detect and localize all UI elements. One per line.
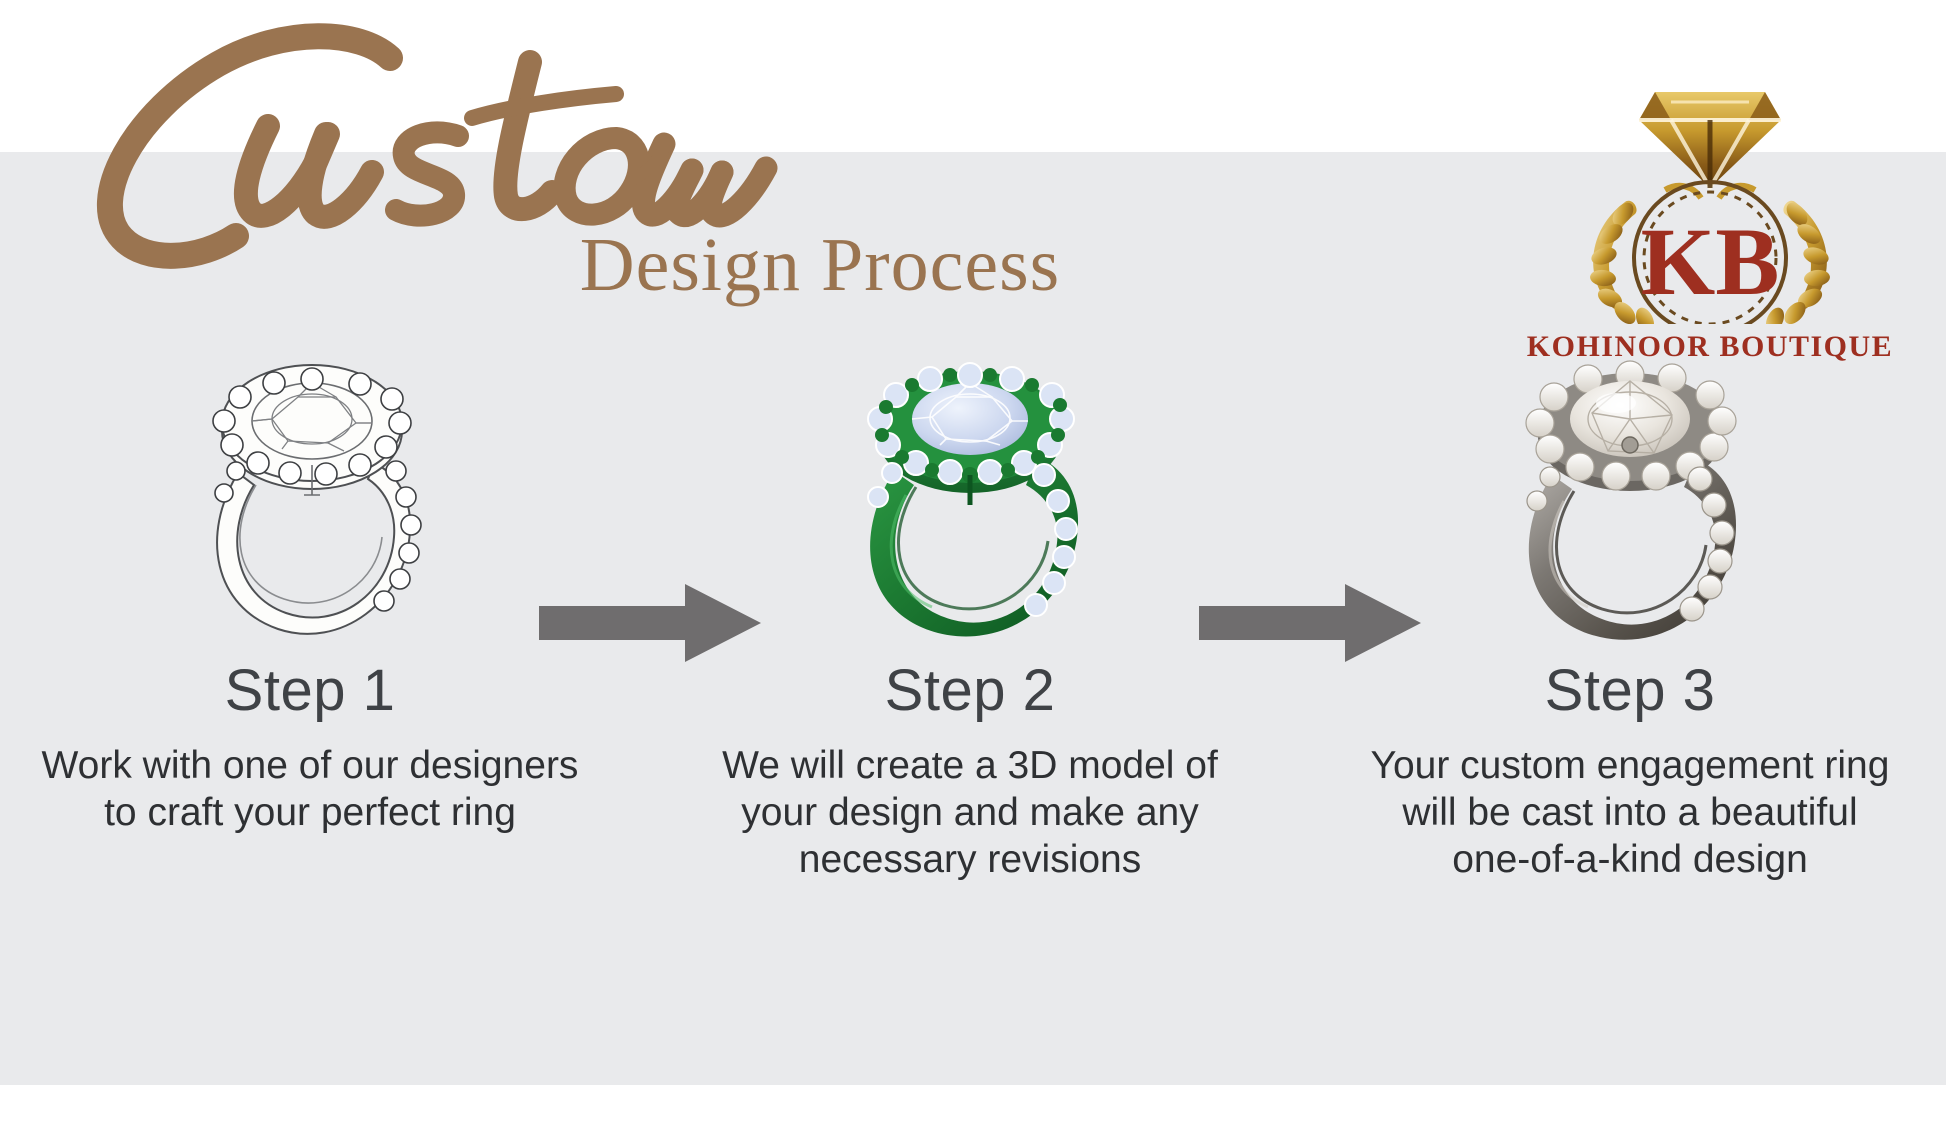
cad-line-drawing-ring-icon [0,340,620,650]
background-band-bottom [0,1085,1946,1143]
infographic-canvas: Custom Design [0,0,1946,1143]
step-column-2: Step 2 We will create a 3D model of your… [660,340,1280,1080]
logo-monogram: KB [1641,208,1780,315]
step-3-line-2: will be cast into a beautiful [1330,789,1930,836]
step-column-1: Step 1 Work with one of our designers to… [0,340,620,1080]
step-2-line-2: your design and make any [670,789,1270,836]
steps-row: Step 1 Work with one of our designers to… [0,340,1946,1080]
step-2-title: Step 2 [660,660,1280,722]
step-1-line-1: Work with one of our designers [10,742,610,789]
step-3-line-3: one-of-a-kind design [1330,836,1930,883]
step-column-3: Step 3 Your custom engagement ring will … [1320,340,1940,1080]
step-2-line-3: necessary revisions [670,836,1270,883]
step-3-line-1: Your custom engagement ring [1330,742,1930,789]
diamond-icon [1639,92,1781,188]
step-1-description: Work with one of our designers to craft … [10,742,610,836]
custom-script-wordmark: Custom [60,22,960,252]
step-3-description: Your custom engagement ring will be cast… [1330,742,1930,883]
step-1-line-2: to craft your perfect ring [10,789,610,836]
brand-logo: KB [1545,62,1875,324]
step-2-description: We will create a 3D model of your design… [670,742,1270,883]
arrow-step2-to-step3-icon [1195,578,1425,668]
step-3-title: Step 3 [1320,660,1940,722]
arrow-step1-to-step2-icon [535,578,765,668]
step-2-line-1: We will create a 3D model of [670,742,1270,789]
step-1-title: Step 1 [0,660,620,722]
subtitle-design-process: Design Process [470,222,1170,308]
